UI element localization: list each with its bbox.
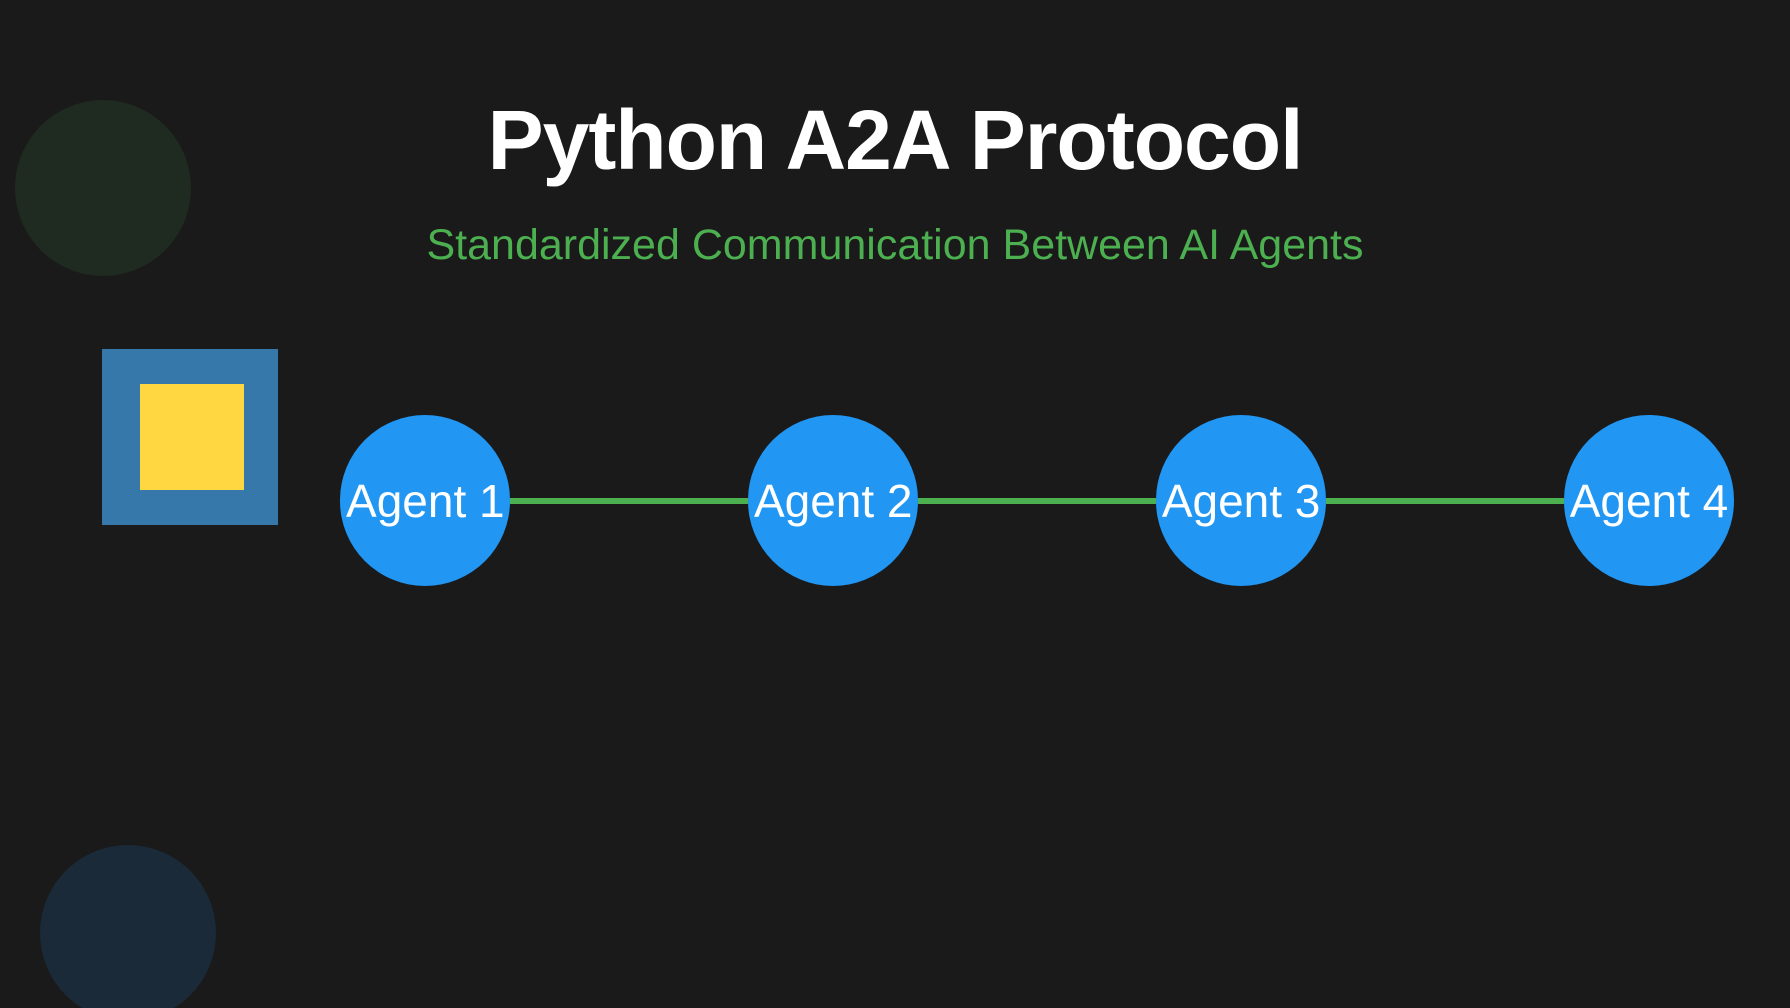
agent-node-3[interactable] [1156, 415, 1326, 585]
slide-canvas: Python A2A Protocol Standardized Communi… [0, 0, 1790, 1008]
link-agent2-agent3 [918, 498, 1156, 504]
agent-node-2[interactable] [748, 415, 918, 585]
agent-node-4[interactable] [1564, 415, 1734, 585]
link-agent1-agent2 [510, 498, 748, 504]
link-agent3-agent4 [1326, 498, 1564, 504]
agent-node-1[interactable] [340, 415, 510, 585]
agent-network-diagram: Agent 1 Agent 2 Agent 3 Agent 4 [0, 0, 1790, 1008]
